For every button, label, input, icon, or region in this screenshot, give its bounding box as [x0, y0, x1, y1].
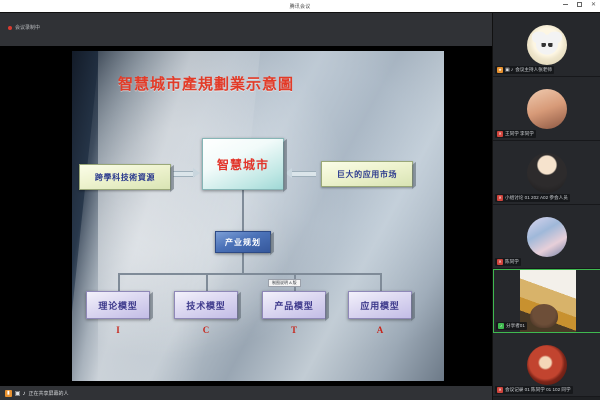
recording-label: 会议录制中 — [15, 24, 40, 31]
participant-label-0: ★ ▣♪ 会议主持人张老师 — [495, 66, 554, 74]
diagram-node-model-0: 理论模型 — [86, 291, 150, 319]
participant-tile-4[interactable]: ♪ 分享者01 — [493, 269, 600, 333]
connector-right-shaft — [292, 171, 316, 177]
window-controls: ✕ — [562, 1, 597, 8]
model-letter-2: T — [262, 325, 326, 335]
connector-model-bus — [118, 273, 380, 275]
participant-name-4: 分享者01 — [506, 323, 525, 329]
participant-icon-group-0: ▣♪ — [505, 68, 513, 73]
mic-icon: ♪ — [511, 68, 514, 73]
speaking-badge: ▮ — [5, 390, 12, 397]
window-titlebar: 腾讯会议 ✕ — [0, 0, 600, 12]
person-avatar-2 — [527, 153, 567, 193]
host-badge-icon: ★ — [497, 67, 503, 73]
participant-label-5: ✕ 会议记录 01 陈同学 01 102 同学 — [495, 386, 573, 394]
participant-tile-0[interactable]: ★ ▣♪ 会议主持人张老师 — [493, 13, 600, 77]
connector-left-arrowhead — [193, 168, 200, 178]
status-icon-group: ▣ ♪ — [15, 391, 26, 397]
maximize-icon[interactable] — [576, 1, 583, 8]
status-bar-name: 正在共享屏幕的人 — [28, 390, 68, 397]
diagram-node-model-2: 产品模型 — [262, 291, 326, 319]
minimize-icon[interactable] — [562, 1, 569, 8]
model-letter-0: I — [86, 325, 150, 335]
meeting-status-bar: ▮ ▣ ♪ 正在共享屏幕的人 — [0, 386, 492, 400]
video-feed — [520, 270, 576, 333]
recording-indicator: 会议录制中 — [8, 24, 40, 31]
meeting-top-strip: 会议录制中 — [0, 13, 492, 46]
participant-name-1: 王同学 李同学 — [505, 131, 534, 137]
participant-label-4: ♪ 分享者01 — [496, 322, 527, 330]
person-avatar-3 — [527, 217, 567, 257]
model-letter-3: A — [348, 325, 412, 335]
model-letter-1: C — [174, 325, 238, 335]
participant-sidebar[interactable]: ★ ▣♪ 会议主持人张老师 ✕ 王同学 李同学 ✕ 小组讨论 0 — [492, 13, 600, 400]
video-on-icon[interactable]: ▣ — [15, 391, 21, 397]
cat-avatar — [527, 25, 567, 65]
window-title: 腾讯会议 — [290, 3, 311, 10]
diagram-node-model-3: 应用模型 — [348, 291, 412, 319]
shared-screen-stage[interactable]: 智慧城市產規劃業示意圖 跨學科技術資源 — [0, 46, 492, 386]
mic-muted-icon: ✕ — [497, 131, 503, 137]
connector-drop-1 — [206, 273, 208, 291]
presentation-slide: 智慧城市產規劃業示意圖 跨學科技術資源 — [72, 51, 444, 381]
participant-tile-1[interactable]: ✕ 王同学 李同学 — [493, 77, 600, 141]
diagram-node-left: 跨學科技術資源 — [79, 164, 171, 190]
slide-title: 智慧城市產規劃業示意圖 — [118, 73, 294, 94]
mic-on-icon: ♪ — [498, 323, 504, 329]
participant-label-3: ✕ 陈同学 — [495, 258, 521, 266]
meeting-body: 会议录制中 智慧城市產規劃業示意圖 — [0, 12, 600, 400]
connector-left-shaft — [173, 171, 195, 177]
mic-on-icon[interactable]: ♪ — [22, 391, 25, 397]
speaking-icon: ▮ — [7, 391, 10, 396]
recording-dot-icon — [8, 26, 12, 30]
participant-label-2: ✕ 小组讨论 01 202 A02 参会人员 — [495, 194, 570, 202]
connector-center-to-plan — [242, 190, 244, 231]
mic-muted-icon: ✕ — [497, 259, 503, 265]
participant-tile-3[interactable]: ✕ 陈同学 — [493, 205, 600, 269]
close-icon[interactable]: ✕ — [590, 1, 597, 8]
mic-muted-icon: ✕ — [497, 195, 503, 201]
connector-plan-down — [242, 253, 244, 273]
participant-tile-2[interactable]: ✕ 小组讨论 01 202 A02 参会人员 — [493, 141, 600, 205]
participant-name-3: 陈同学 — [505, 259, 519, 265]
connector-drop-3 — [380, 273, 382, 291]
participant-name-0: 会议主持人张老师 — [515, 67, 552, 73]
participant-name-5: 会议记录 01 陈同学 01 102 同学 — [505, 387, 571, 393]
diagram-node-model-1: 技术模型 — [174, 291, 238, 319]
diagram-node-center: 智慧城市 — [202, 138, 284, 190]
participant-label-1: ✕ 王同学 李同学 — [495, 130, 536, 138]
video-icon: ▣ — [505, 68, 510, 73]
participant-name-2: 小组讨论 01 202 A02 参会人员 — [505, 195, 568, 201]
connector-drop-0 — [118, 273, 120, 291]
slide-tooltip: 制图说明 A 版 — [268, 279, 301, 287]
diagram-node-right: 巨大的应用市场 — [321, 161, 413, 187]
mic-muted-icon: ✕ — [497, 387, 503, 393]
meeting-app-window: 腾讯会议 ✕ 会议录制中 智慧城市產規劃業示意圖 — [0, 0, 600, 400]
diagram-node-plan: 产业规划 — [215, 231, 271, 253]
participant-tile-5[interactable]: ✕ 会议记录 01 陈同学 01 102 同学 — [493, 333, 600, 397]
person-avatar-1 — [527, 89, 567, 129]
person-avatar-5 — [527, 345, 567, 385]
